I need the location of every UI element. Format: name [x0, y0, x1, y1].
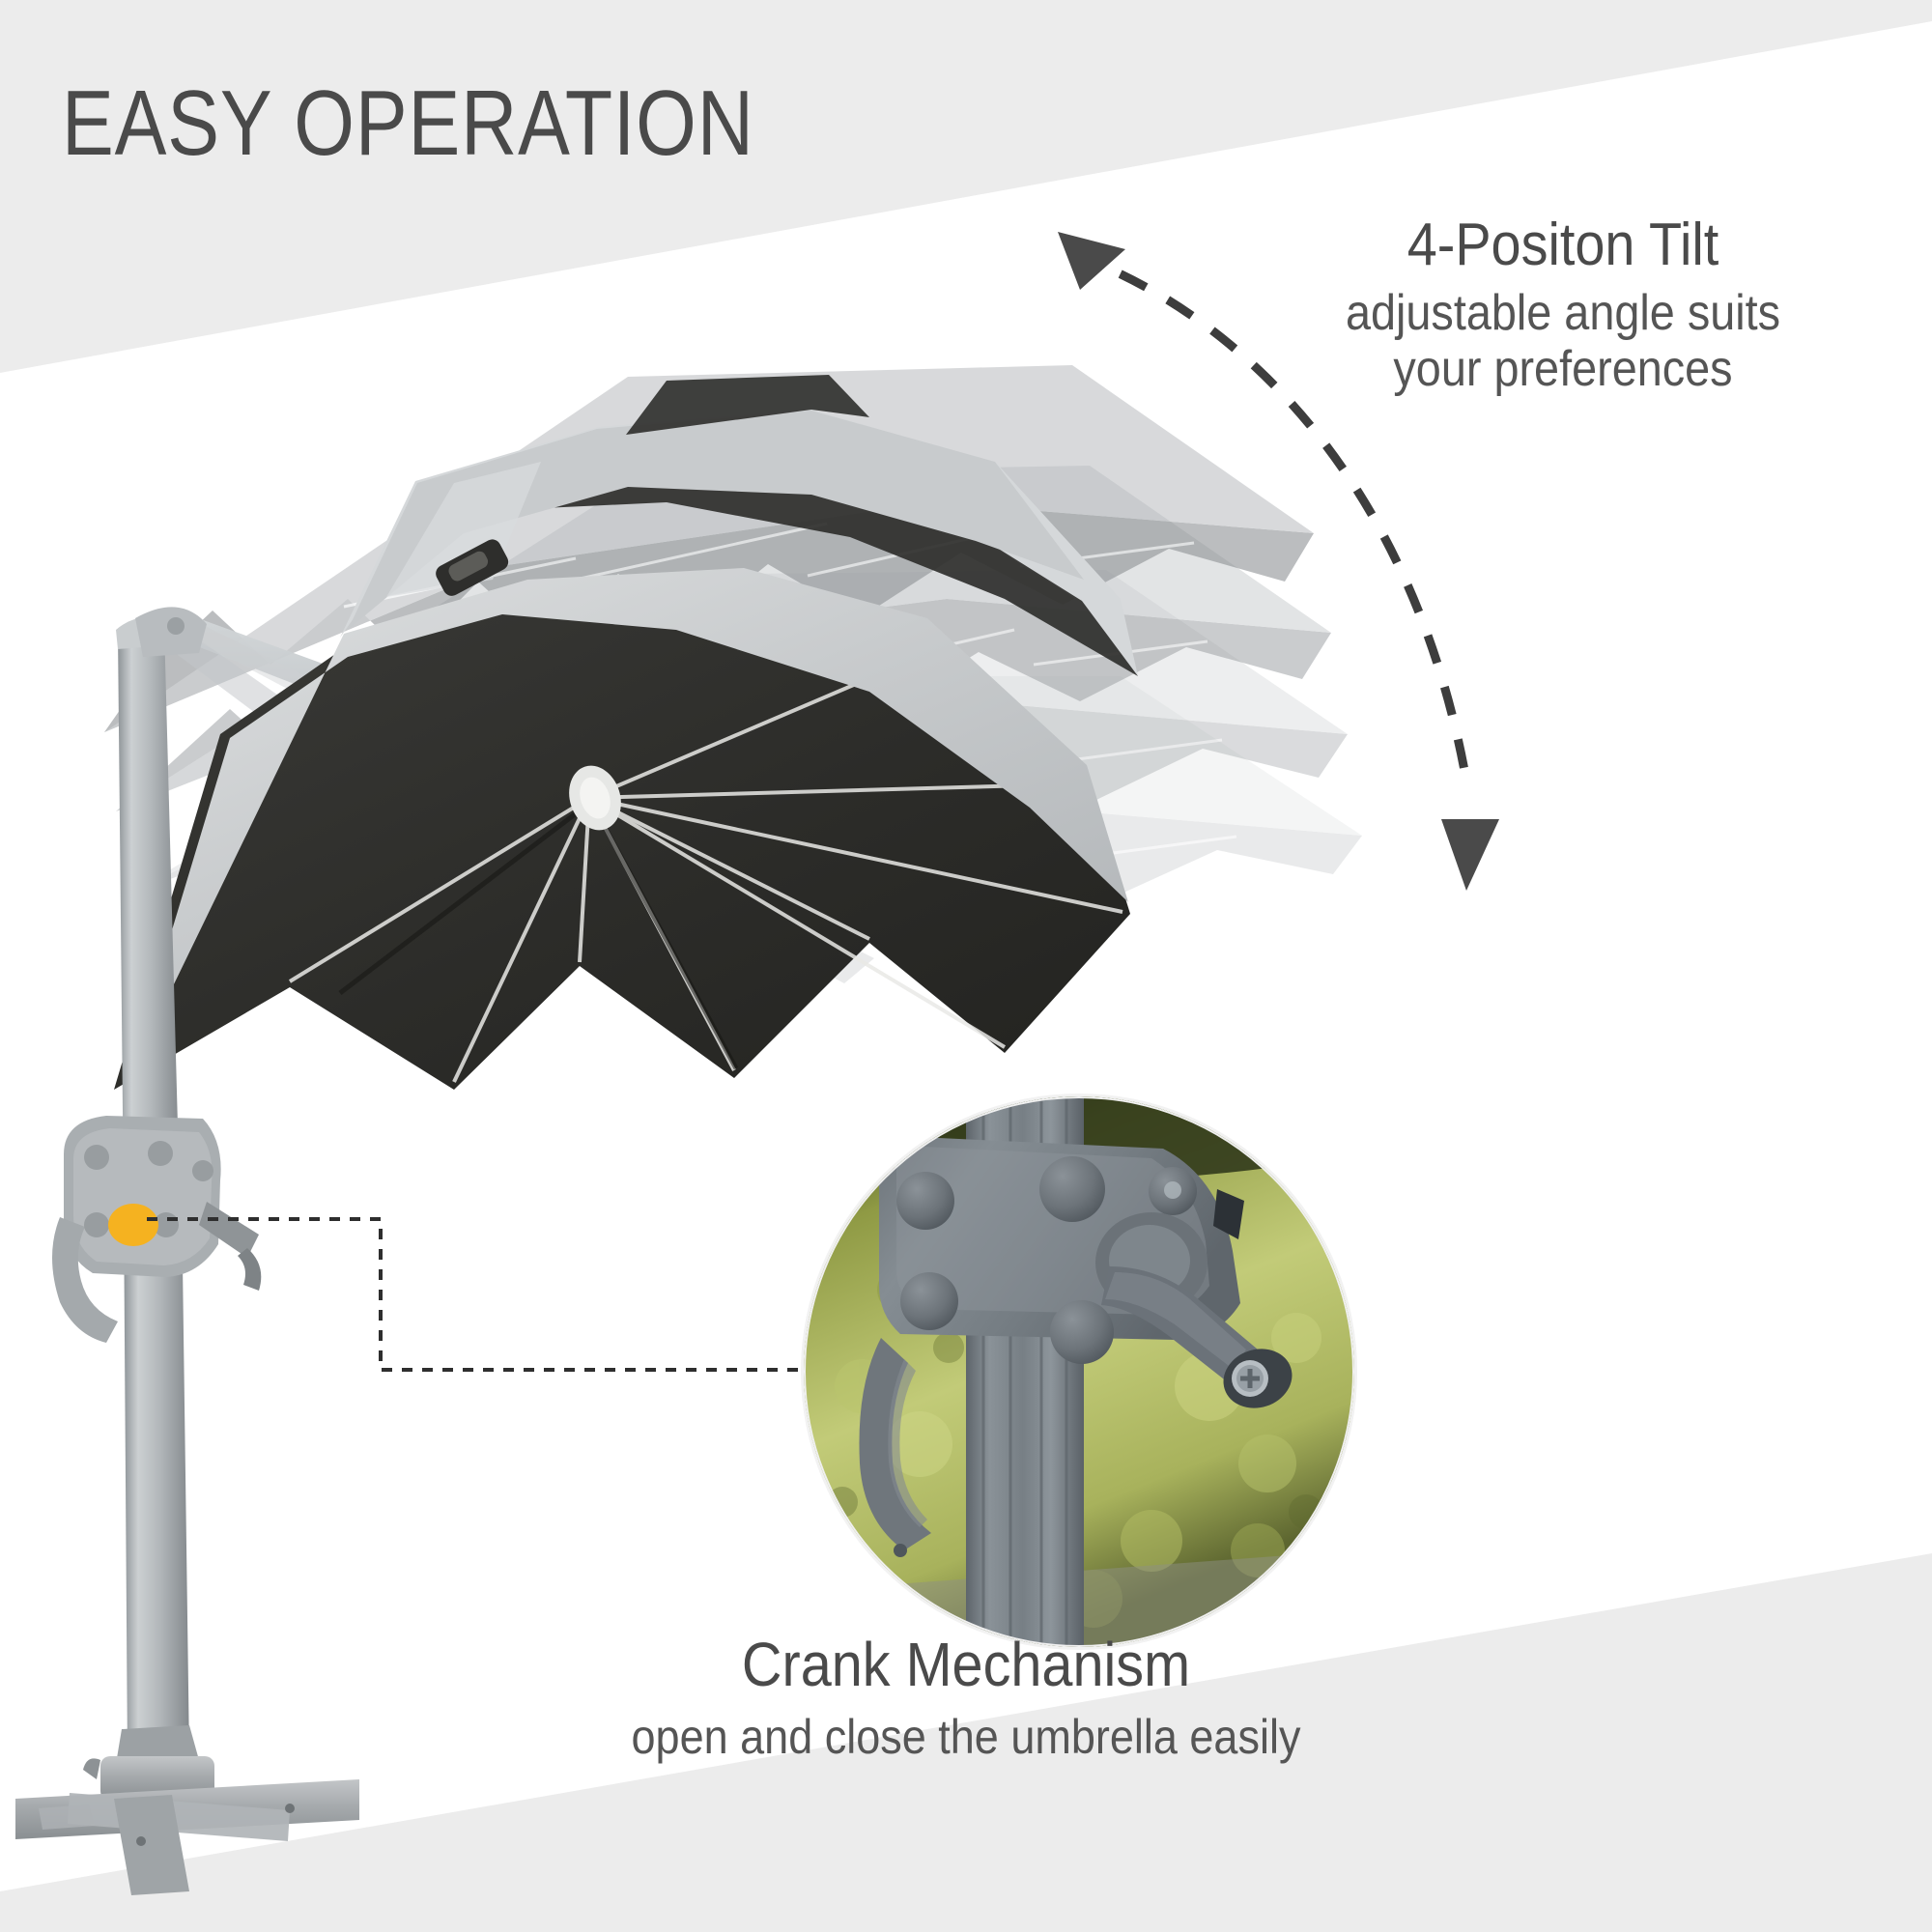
tilt-callout: 4-Positon Tilt adjustable angle suits yo… [1215, 214, 1911, 398]
feature-panel: EASY OPERATION 4-Positon Tilt adjustable… [0, 0, 1932, 1932]
crank-callout-subtitle: open and close the umbrella easily [427, 1711, 1505, 1764]
tilt-callout-subtitle-line1: adjustable angle suits [1250, 285, 1876, 341]
crank-callout: Crank Mechanism open and close the umbre… [367, 1633, 1565, 1764]
tilt-callout-subtitle: adjustable angle suits your preferences [1250, 285, 1876, 397]
tilt-callout-title: 4-Positon Tilt [1250, 214, 1876, 275]
crank-photo-inset [804, 1096, 1354, 1647]
crank-callout-title: Crank Mechanism [427, 1633, 1505, 1697]
page-title: EASY OPERATION [62, 77, 754, 170]
tilt-callout-subtitle-line2: your preferences [1250, 341, 1876, 397]
leader-dashed-path [147, 1219, 817, 1370]
